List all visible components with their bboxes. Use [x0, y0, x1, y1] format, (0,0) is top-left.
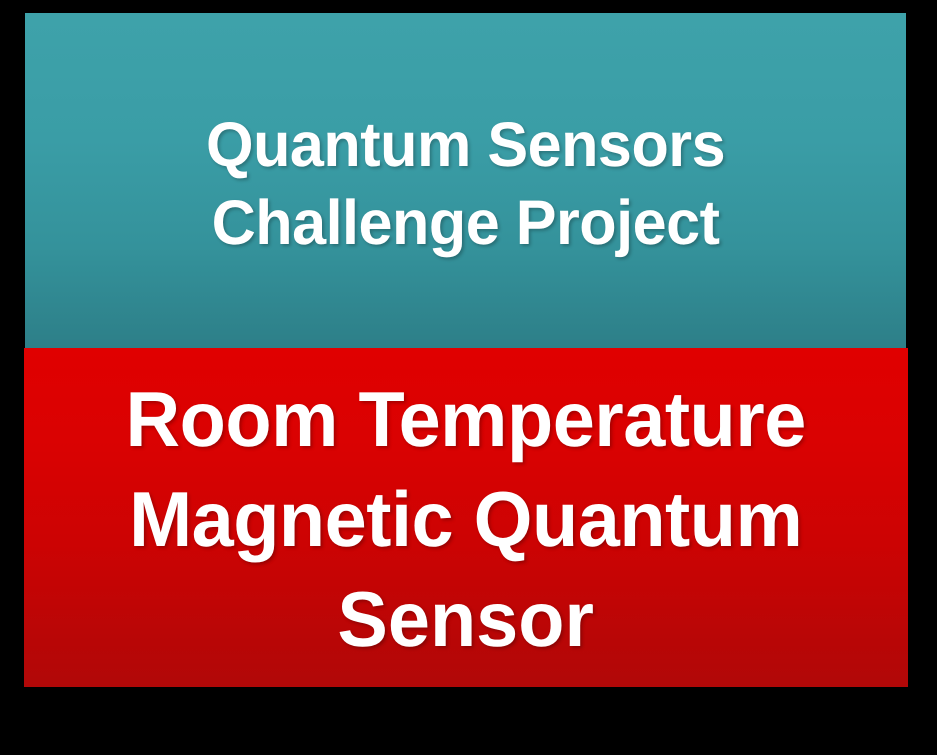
project-title-line-1: Quantum Sensors — [206, 106, 725, 184]
project-title: Quantum Sensors Challenge Project — [206, 106, 725, 262]
subject-title: Room Temperature Magnetic Quantum Sensor — [126, 369, 806, 669]
subject-title-line-2: Magnetic Quantum — [126, 469, 806, 569]
subject-title-line-1: Room Temperature — [126, 369, 806, 469]
project-title-line-2: Challenge Project — [206, 184, 725, 262]
header-panel-teal: Quantum Sensors Challenge Project — [25, 13, 906, 348]
subject-title-line-3: Sensor — [126, 569, 806, 669]
slide-root: Quantum Sensors Challenge Project Room T… — [0, 0, 937, 755]
body-panel-red: Room Temperature Magnetic Quantum Sensor — [24, 348, 908, 687]
